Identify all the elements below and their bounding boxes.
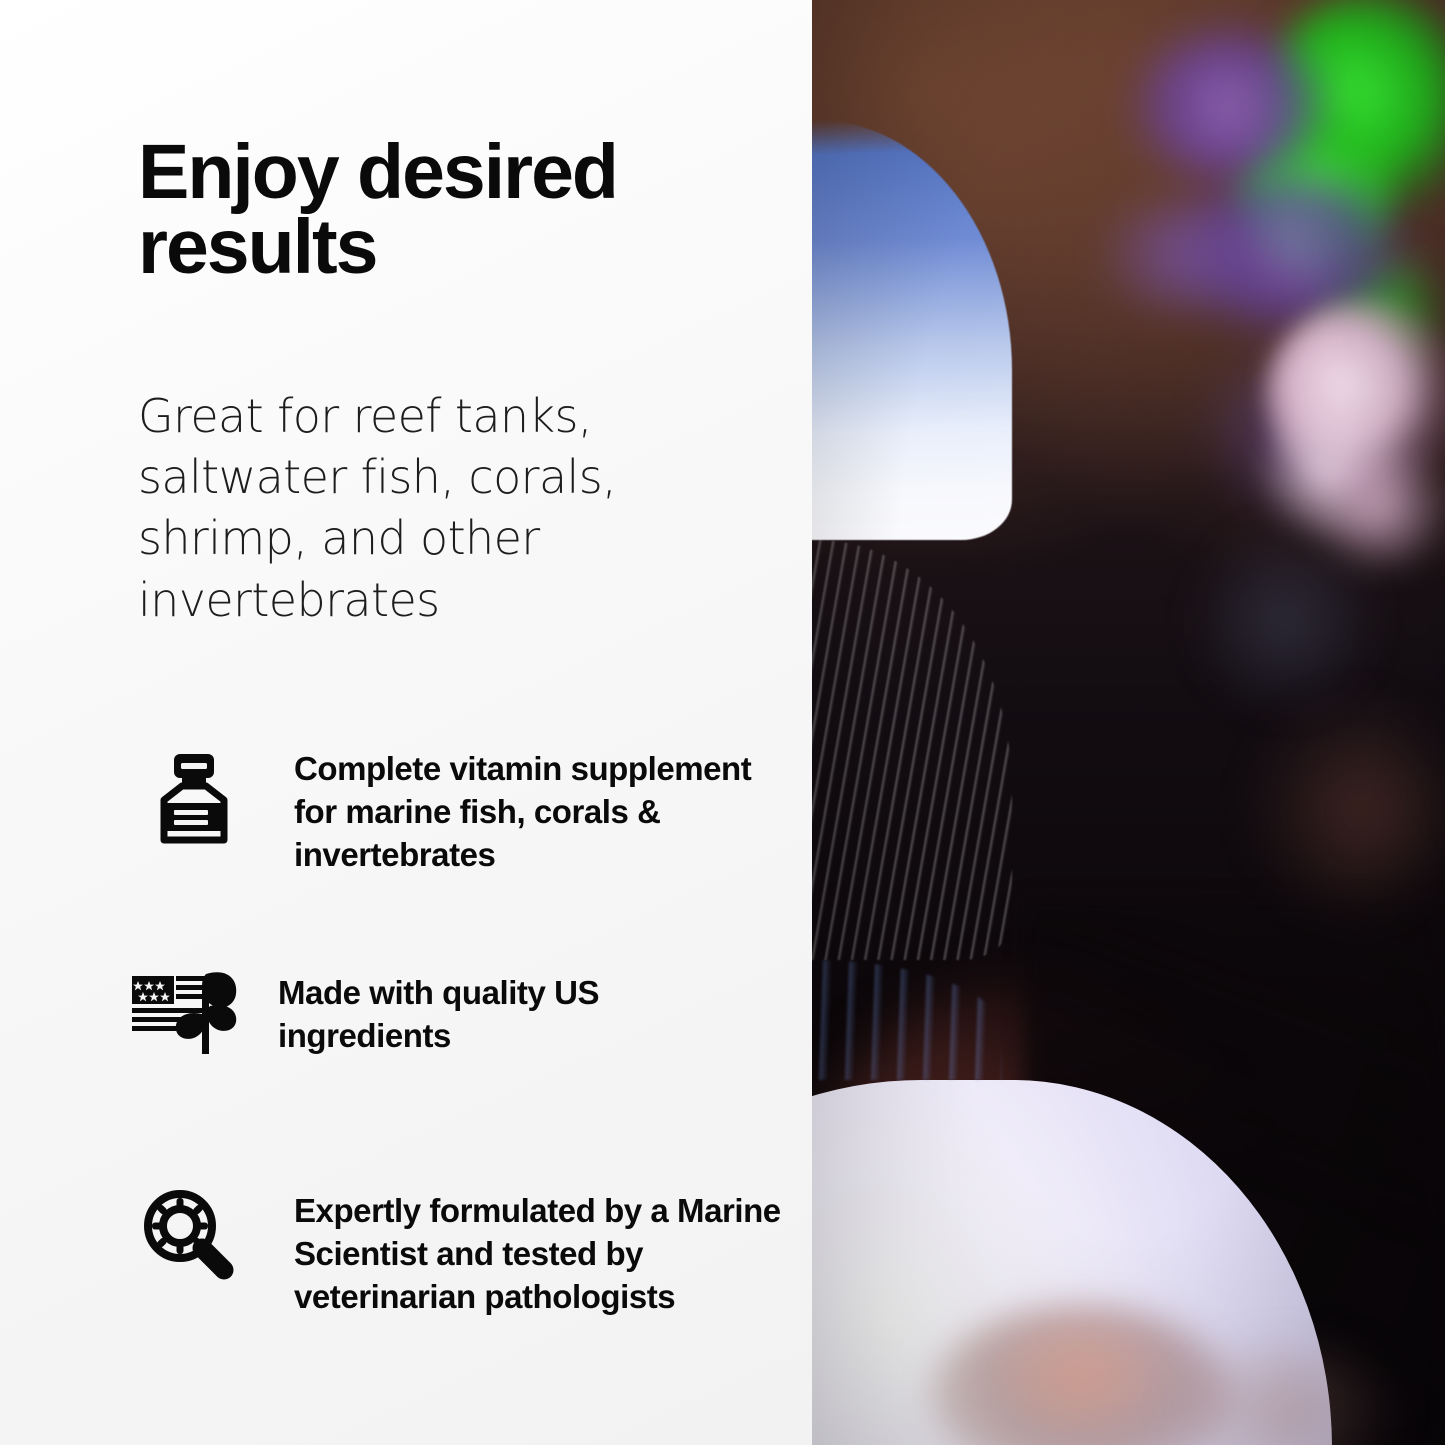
feature-label: Expertly formulated by a Marine Scientis… <box>294 1190 794 1319</box>
reef-fish-photo <box>812 0 1445 1445</box>
feature-item-vitamin-supplement: Complete vitamin supplement for marine f… <box>146 752 786 877</box>
feature-item-expert-formulation: Expertly formulated by a Marine Scientis… <box>140 1186 800 1319</box>
supplement-bottle-icon <box>146 752 242 848</box>
magnifier-microbe-icon <box>140 1186 236 1282</box>
feature-label: Made with quality US ingredients <box>278 972 748 1058</box>
text-panel: Enjoy desired results Great for reef tan… <box>0 0 812 1445</box>
product-infographic: Enjoy desired results Great for reef tan… <box>0 0 1445 1445</box>
feature-item-us-ingredients: Made with quality US ingredients <box>128 966 768 1062</box>
feature-list: Complete vitamin supplement for marine f… <box>0 0 812 1445</box>
usa-flag-plant-icon <box>128 966 244 1062</box>
photo-vignette <box>812 0 1445 1445</box>
feature-label: Complete vitamin supplement for marine f… <box>294 748 786 877</box>
